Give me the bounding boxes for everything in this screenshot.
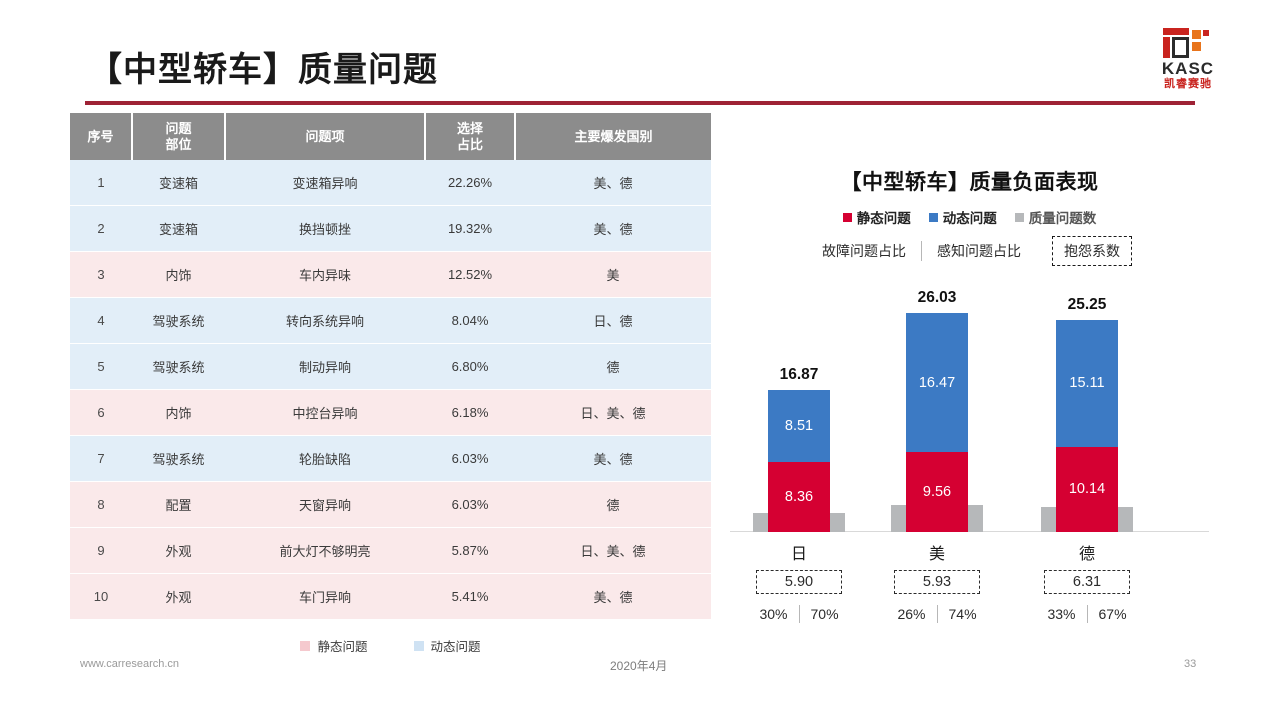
- cell-item: 车门异响: [225, 574, 425, 620]
- chart-category-row: 日美德: [722, 538, 1217, 568]
- bar-group: 15.1110.1425.25: [1022, 280, 1152, 532]
- cell-country: 日、美、德: [515, 390, 711, 436]
- logo-shape-inner: [1175, 40, 1186, 55]
- cell-index: 8: [70, 482, 132, 528]
- logo-shape-dot-orange: [1192, 30, 1201, 39]
- percentage-separator: [937, 605, 938, 623]
- quality-issues-table: 序号 问题 部位 问题项 选择 占比 主要爆发国别 1变速箱变速箱异响22.26…: [70, 113, 711, 620]
- column-header-index: 序号: [70, 113, 132, 160]
- metric-fault-label: 故障问题占比: [807, 241, 921, 261]
- bar-label-static: 10.14: [1069, 481, 1105, 497]
- cell-part: 配置: [132, 482, 225, 528]
- bar-total-label: 25.25: [1022, 296, 1152, 314]
- cell-index: 2: [70, 206, 132, 252]
- cell-part: 外观: [132, 574, 225, 620]
- footer-page-number: 33: [1184, 658, 1196, 670]
- percentage-separator: [799, 605, 800, 623]
- cell-percent: 8.04%: [425, 298, 515, 344]
- bar-segment-static: 9.56: [906, 452, 968, 532]
- cell-item: 换挡顿挫: [225, 206, 425, 252]
- logo-shape-top-bar: [1163, 28, 1189, 35]
- percentage-separator: [1087, 605, 1088, 623]
- header-line-1: 问题: [133, 121, 224, 137]
- column-header-item: 问题项: [225, 113, 425, 160]
- kasc-logo: KASC 凯睿赛驰: [1150, 28, 1226, 90]
- header-line-1: 主要爆发国别: [516, 129, 711, 145]
- cell-country: 美、德: [515, 160, 711, 206]
- table-row: 8配置天窗异响6.03%德: [70, 482, 711, 528]
- cell-country: 美、德: [515, 436, 711, 482]
- header-line-2: 占比: [426, 137, 514, 153]
- perception-percentage: 70%: [811, 606, 839, 622]
- cell-item: 制动异响: [225, 344, 425, 390]
- bar-label-static: 9.56: [923, 484, 951, 500]
- bar-label-dynamic: 15.11: [1069, 375, 1104, 391]
- bar-total-label: 16.87: [734, 366, 864, 384]
- chart-title: 【中型轿车】质量负面表现: [722, 166, 1217, 196]
- legend-item-static: 静态问题: [300, 636, 367, 655]
- metric-coefficient-label: 抱怨系数: [1052, 236, 1132, 266]
- cell-percent: 6.03%: [425, 482, 515, 528]
- cell-percent: 5.41%: [425, 574, 515, 620]
- table-row: 10外观车门异响5.41%美、德: [70, 574, 711, 620]
- chart-plot-area: 8.518.3616.8716.479.5626.0315.1110.1425.…: [722, 280, 1217, 532]
- cell-country: 日、美、德: [515, 528, 711, 574]
- cell-item: 变速箱异响: [225, 160, 425, 206]
- cell-index: 1: [70, 160, 132, 206]
- chart-percentage-row: 30%70%26%74%33%67%: [722, 605, 1217, 631]
- column-header-country: 主要爆发国别: [515, 113, 711, 160]
- column-header-part: 问题 部位: [132, 113, 225, 160]
- fault-percentage: 26%: [897, 606, 925, 622]
- bar-segment-dynamic: 8.51: [768, 390, 830, 461]
- title-divider: [85, 101, 1195, 105]
- cell-country: 日、德: [515, 298, 711, 344]
- cell-part: 变速箱: [132, 206, 225, 252]
- cell-item: 转向系统异响: [225, 298, 425, 344]
- cell-percent: 12.52%: [425, 252, 515, 298]
- logo-shape-dot-red: [1203, 30, 1209, 36]
- axis-category-label: 美: [872, 540, 1002, 564]
- fault-percentage: 33%: [1047, 606, 1075, 622]
- chart-legend-item-count: 质量问题数: [1015, 207, 1097, 227]
- header-line-1: 选择: [426, 121, 514, 137]
- table-legend: 静态问题 动态问题: [70, 636, 711, 655]
- chart-legend-label-static: 静态问题: [857, 207, 911, 227]
- header-line-1: 问题项: [226, 129, 424, 145]
- chart-legend-label-dynamic: 动态问题: [943, 207, 997, 227]
- fault-percentage: 30%: [759, 606, 787, 622]
- percentage-cell: 30%70%: [734, 605, 864, 623]
- cell-part: 驾驶系统: [132, 298, 225, 344]
- footer-url[interactable]: www.carresearch.cn: [80, 658, 179, 670]
- perception-percentage: 67%: [1099, 606, 1127, 622]
- legend-swatch-static: [300, 641, 310, 651]
- table-header-row: 序号 问题 部位 问题项 选择 占比 主要爆发国别: [70, 113, 711, 160]
- cell-country: 德: [515, 344, 711, 390]
- bar-segment-static: 8.36: [768, 462, 830, 532]
- bar-label-dynamic: 8.51: [785, 418, 813, 434]
- perception-percentage: 74%: [949, 606, 977, 622]
- cell-part: 内饰: [132, 252, 225, 298]
- legend-item-dynamic: 动态问题: [414, 636, 481, 655]
- cell-index: 5: [70, 344, 132, 390]
- table-row: 2变速箱换挡顿挫19.32%美、德: [70, 206, 711, 252]
- legend-label-static: 静态问题: [317, 636, 367, 655]
- logo-shape-dot-orange-2: [1192, 42, 1201, 51]
- legend-label-dynamic: 动态问题: [431, 636, 481, 655]
- cell-item: 轮胎缺陷: [225, 436, 425, 482]
- bar-segment-dynamic: 16.47: [906, 313, 968, 451]
- header-line-2: 部位: [133, 137, 224, 153]
- column-header-percent: 选择 占比: [425, 113, 515, 160]
- percentage-cell: 33%67%: [1022, 605, 1152, 623]
- cell-index: 7: [70, 436, 132, 482]
- coefficient-cell: 5.93: [872, 570, 1002, 594]
- cell-item: 天窗异响: [225, 482, 425, 528]
- cell-index: 4: [70, 298, 132, 344]
- chart-legend-item-static: 静态问题: [843, 207, 911, 227]
- cell-index: 6: [70, 390, 132, 436]
- chart-legend-label-count: 质量问题数: [1029, 207, 1097, 227]
- chart-legend-item-dynamic: 动态问题: [929, 207, 997, 227]
- chart-legend: 静态问题 动态问题 质量问题数: [722, 207, 1217, 227]
- cell-percent: 19.32%: [425, 206, 515, 252]
- bar-segment-dynamic: 15.11: [1056, 320, 1118, 447]
- table-row: 4驾驶系统转向系统异响8.04%日、德: [70, 298, 711, 344]
- logo-latin-text: KASC: [1150, 60, 1226, 77]
- bar-segment-static: 10.14: [1056, 447, 1118, 532]
- cell-country: 美、德: [515, 574, 711, 620]
- coefficient-value: 5.93: [894, 570, 980, 594]
- chart-metric-row: 故障问题占比 感知问题占比 抱怨系数: [722, 236, 1217, 266]
- quality-chart-panel: 【中型轿车】质量负面表现 静态问题 动态问题 质量问题数 故障问题占比 感知问题…: [722, 160, 1217, 640]
- cell-country: 美、德: [515, 206, 711, 252]
- cell-item: 车内异味: [225, 252, 425, 298]
- bar-total-label: 26.03: [872, 289, 1002, 307]
- table-row: 9外观前大灯不够明亮5.87%日、美、德: [70, 528, 711, 574]
- table-row: 6内饰中控台异响6.18%日、美、德: [70, 390, 711, 436]
- table-row: 3内饰车内异味12.52%美: [70, 252, 711, 298]
- cell-percent: 6.80%: [425, 344, 515, 390]
- bar-stack: 16.479.56: [906, 313, 968, 532]
- bar-group: 8.518.3616.87: [734, 280, 864, 532]
- chart-legend-swatch-count: [1015, 213, 1024, 222]
- axis-category-label: 日: [734, 540, 864, 564]
- bar-stack: 15.1110.14: [1056, 320, 1118, 532]
- coefficient-value: 6.31: [1044, 570, 1130, 594]
- header-line-1: 序号: [70, 129, 131, 145]
- metric-perception-label: 感知问题占比: [922, 241, 1036, 261]
- cell-percent: 22.26%: [425, 160, 515, 206]
- chart-coefficient-row: 5.905.936.31: [722, 570, 1217, 602]
- table-row: 1变速箱变速箱异响22.26%美、德: [70, 160, 711, 206]
- coefficient-cell: 5.90: [734, 570, 864, 594]
- footer-date: 2020年4月: [610, 657, 667, 674]
- table-row: 5驾驶系统制动异响6.80%德: [70, 344, 711, 390]
- table-row: 7驾驶系统轮胎缺陷6.03%美、德: [70, 436, 711, 482]
- cell-percent: 5.87%: [425, 528, 515, 574]
- logo-shape-left-bar: [1163, 37, 1170, 58]
- cell-percent: 6.18%: [425, 390, 515, 436]
- cell-part: 内饰: [132, 390, 225, 436]
- cell-country: 德: [515, 482, 711, 528]
- bar-group: 16.479.5626.03: [872, 280, 1002, 532]
- coefficient-value: 5.90: [756, 570, 842, 594]
- cell-index: 9: [70, 528, 132, 574]
- logo-mark-icon: [1159, 28, 1217, 58]
- legend-swatch-dynamic: [414, 641, 424, 651]
- axis-category-label: 德: [1022, 540, 1152, 564]
- cell-percent: 6.03%: [425, 436, 515, 482]
- cell-item: 中控台异响: [225, 390, 425, 436]
- coefficient-cell: 6.31: [1022, 570, 1152, 594]
- cell-part: 外观: [132, 528, 225, 574]
- logo-chinese-text: 凯睿赛驰: [1150, 78, 1226, 91]
- bar-stack: 8.518.36: [768, 390, 830, 532]
- cell-part: 变速箱: [132, 160, 225, 206]
- chart-legend-swatch-static: [843, 213, 852, 222]
- cell-country: 美: [515, 252, 711, 298]
- cell-part: 驾驶系统: [132, 436, 225, 482]
- cell-item: 前大灯不够明亮: [225, 528, 425, 574]
- cell-index: 10: [70, 574, 132, 620]
- percentage-cell: 26%74%: [872, 605, 1002, 623]
- bar-label-dynamic: 16.47: [919, 375, 955, 391]
- chart-legend-swatch-dynamic: [929, 213, 938, 222]
- page-title: 【中型轿车】质量问题: [88, 42, 438, 91]
- bar-label-static: 8.36: [785, 489, 813, 505]
- cell-part: 驾驶系统: [132, 344, 225, 390]
- cell-index: 3: [70, 252, 132, 298]
